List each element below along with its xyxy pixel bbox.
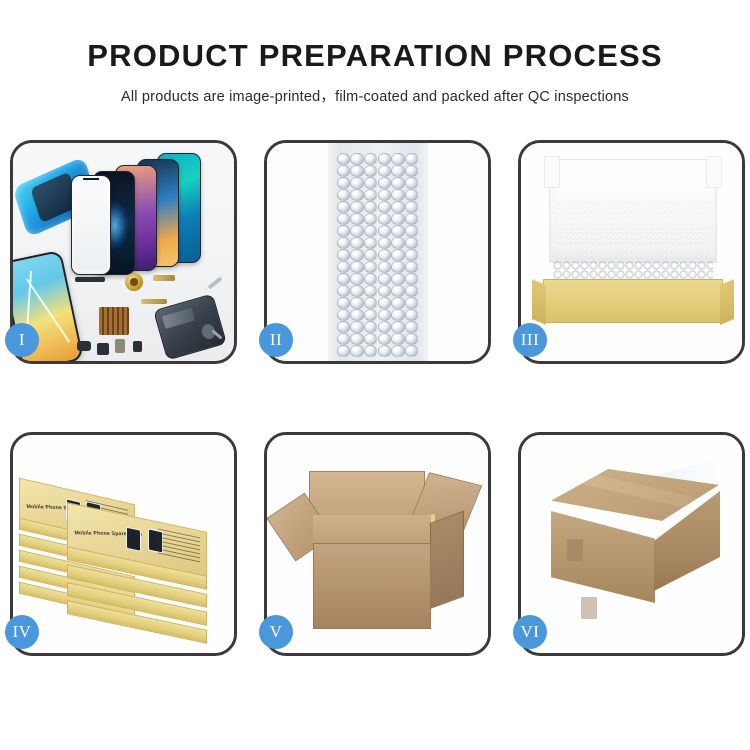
kraft-box-base-icon bbox=[543, 279, 723, 323]
step-image-4: Mobile Phone Spare Parts Mobile Phon bbox=[13, 435, 234, 653]
shipping-carton-sealed bbox=[545, 469, 725, 625]
bubble-cell bbox=[378, 333, 391, 344]
bubble-cell bbox=[337, 321, 350, 332]
bubble-cell bbox=[364, 309, 377, 320]
bubble-cell bbox=[337, 153, 350, 164]
bubble-cell bbox=[405, 285, 418, 296]
step-badge-5: V bbox=[259, 615, 293, 649]
bubble-cell bbox=[378, 237, 391, 248]
bubble-cell bbox=[391, 201, 404, 212]
bubble-cell bbox=[405, 153, 418, 164]
carton-side-right bbox=[430, 511, 464, 609]
step-panel-2: II bbox=[264, 140, 491, 364]
bubble-cell bbox=[350, 309, 363, 320]
box-stack: Mobile Phone Spare Parts Mobile Phon bbox=[15, 443, 234, 653]
bubble-cell bbox=[378, 225, 391, 236]
bubble-cell bbox=[337, 333, 350, 344]
bubble-cell bbox=[405, 345, 418, 356]
bubble-cell bbox=[405, 201, 418, 212]
bubble-cell bbox=[378, 153, 391, 164]
part-chip-icon bbox=[97, 343, 109, 355]
bubble-cell bbox=[364, 189, 377, 200]
bubble-cell bbox=[337, 249, 350, 260]
bubble-cell bbox=[378, 201, 391, 212]
bubble-cell bbox=[337, 261, 350, 272]
bubble-cell bbox=[391, 309, 404, 320]
bubble-cell bbox=[337, 297, 350, 308]
part-small-icon bbox=[133, 341, 142, 352]
flex-cable-icon bbox=[141, 299, 167, 304]
bubble-cell bbox=[364, 153, 377, 164]
bubble-cell bbox=[350, 237, 363, 248]
bubble-cell bbox=[350, 189, 363, 200]
bubble-cell bbox=[405, 273, 418, 284]
step-panel-5: V bbox=[264, 432, 491, 656]
bubble-cell bbox=[337, 309, 350, 320]
bubble-cell bbox=[391, 345, 404, 356]
bubble-cell bbox=[405, 249, 418, 260]
page-title: PRODUCT PREPARATION PROCESS bbox=[0, 38, 750, 74]
open-carton-illustration bbox=[267, 435, 488, 653]
bubble-cell bbox=[391, 249, 404, 260]
bubble-cell bbox=[350, 321, 363, 332]
step-panel-6: VI bbox=[518, 432, 745, 656]
flex-cable-icon bbox=[153, 275, 175, 281]
bubble-cell bbox=[391, 165, 404, 176]
connector-grid-icon bbox=[99, 307, 129, 335]
step-badge-1: I bbox=[5, 323, 39, 357]
bubble-cell bbox=[364, 225, 377, 236]
bubble-wrap-illustration bbox=[267, 143, 488, 361]
sealed-carton-illustration bbox=[521, 435, 742, 653]
bubble-cell bbox=[364, 165, 377, 176]
box-spec-lines bbox=[158, 528, 200, 563]
step-panel-4: Mobile Phone Spare Parts Mobile Phon bbox=[10, 432, 237, 656]
bubble-cell bbox=[405, 165, 418, 176]
bubble-cell bbox=[378, 321, 391, 332]
bubble-cell bbox=[364, 237, 377, 248]
bubble-cell bbox=[391, 177, 404, 188]
bubble-cell bbox=[337, 177, 350, 188]
bubble-cell bbox=[350, 153, 363, 164]
header: PRODUCT PREPARATION PROCESS All products… bbox=[0, 0, 750, 106]
bubble-cell bbox=[337, 213, 350, 224]
bubble-cell bbox=[378, 165, 391, 176]
part-strip-icon bbox=[75, 277, 105, 282]
bubble-cell bbox=[337, 189, 350, 200]
bubble-cell bbox=[391, 213, 404, 224]
bubble-cell bbox=[405, 225, 418, 236]
step-badge-3: III bbox=[513, 323, 547, 357]
bubble-cell bbox=[391, 285, 404, 296]
bubble-cell bbox=[405, 333, 418, 344]
phone-thumb-icon bbox=[126, 527, 141, 552]
page-subtitle: All products are image-printed，film-coat… bbox=[0, 85, 750, 106]
bubble-cell bbox=[350, 345, 363, 356]
step-badge-6: VI bbox=[513, 615, 547, 649]
bubble-cell bbox=[405, 237, 418, 248]
bubble-cell bbox=[350, 225, 363, 236]
bubble-cell bbox=[350, 177, 363, 188]
bubble-cell bbox=[364, 285, 377, 296]
bubble-cell bbox=[337, 345, 350, 356]
step-image-2 bbox=[267, 143, 488, 361]
bubble-cell bbox=[364, 273, 377, 284]
bubble-cell bbox=[405, 297, 418, 308]
tweezer-icon bbox=[207, 276, 222, 289]
step-image-1 bbox=[13, 143, 234, 361]
bubble-cell bbox=[350, 213, 363, 224]
carton-flap-mark bbox=[581, 597, 597, 619]
bubble-cell bbox=[350, 297, 363, 308]
stacked-boxes-illustration: Mobile Phone Spare Parts Mobile Phon bbox=[13, 435, 234, 653]
notch-icon bbox=[83, 178, 99, 184]
bubble-cell bbox=[378, 273, 391, 284]
bubble-cell bbox=[391, 237, 404, 248]
bubble-cell bbox=[405, 309, 418, 320]
carton-flap-mark bbox=[567, 539, 583, 561]
screen-glass-icon bbox=[71, 175, 111, 275]
bubble-cell bbox=[378, 297, 391, 308]
bubble-cell bbox=[350, 273, 363, 284]
bubble-cell bbox=[364, 345, 377, 356]
bubble-cell bbox=[350, 261, 363, 272]
bubble-cell bbox=[378, 177, 391, 188]
bubble-cell bbox=[337, 237, 350, 248]
bubble-cell bbox=[391, 225, 404, 236]
bubble-cell bbox=[350, 201, 363, 212]
bubble-cell bbox=[337, 285, 350, 296]
bubble-cell bbox=[405, 177, 418, 188]
bubble-cell bbox=[337, 225, 350, 236]
bubble-wrap-pouch-icon bbox=[328, 143, 428, 361]
spare-parts-cluster bbox=[75, 271, 227, 361]
bubble-cell bbox=[337, 273, 350, 284]
bubble-cell bbox=[405, 189, 418, 200]
step-image-5 bbox=[267, 435, 488, 653]
bubble-cell bbox=[364, 321, 377, 332]
bubble-cell bbox=[391, 333, 404, 344]
bubble-cell bbox=[337, 201, 350, 212]
bubble-cell bbox=[337, 165, 350, 176]
bubble-cell bbox=[391, 153, 404, 164]
product-assortment-illustration bbox=[13, 143, 234, 361]
step-panel-3: III bbox=[518, 140, 745, 364]
step-image-6 bbox=[521, 435, 742, 653]
bubble-cell bbox=[378, 249, 391, 260]
bubble-cell bbox=[378, 189, 391, 200]
bubble-cell bbox=[391, 261, 404, 272]
part-button-icon bbox=[115, 339, 125, 353]
bubble-cell bbox=[378, 261, 391, 272]
carton-front-face bbox=[313, 543, 431, 629]
bubble-cell bbox=[364, 177, 377, 188]
step-badge-4: IV bbox=[5, 615, 39, 649]
bubble-cell bbox=[378, 309, 391, 320]
bubble-cell bbox=[391, 321, 404, 332]
bubble-cell bbox=[391, 273, 404, 284]
bubble-cell bbox=[405, 261, 418, 272]
bubble-grid bbox=[337, 153, 419, 357]
bubble-cell bbox=[364, 249, 377, 260]
step-image-3 bbox=[521, 143, 742, 361]
bubble-cell bbox=[391, 297, 404, 308]
bubble-cell bbox=[350, 249, 363, 260]
bubble-cell bbox=[350, 285, 363, 296]
bubble-cell bbox=[364, 297, 377, 308]
bubble-cell bbox=[405, 213, 418, 224]
shipping-carton-open bbox=[293, 465, 469, 635]
bubble-cell bbox=[350, 165, 363, 176]
phone-fan-group bbox=[65, 151, 234, 281]
step-panel-1: I bbox=[10, 140, 237, 364]
speaker-coil-icon bbox=[125, 273, 143, 291]
product-preparation-infographic: PRODUCT PREPARATION PROCESS All products… bbox=[0, 0, 750, 750]
bubble-cell bbox=[378, 345, 391, 356]
bubble-cell bbox=[364, 261, 377, 272]
bubble-cell bbox=[364, 201, 377, 212]
bubble-cell bbox=[364, 213, 377, 224]
bubble-cell bbox=[350, 333, 363, 344]
foam-sheet-icon bbox=[555, 201, 711, 263]
part-camera-icon bbox=[77, 341, 91, 351]
bubble-cell bbox=[378, 213, 391, 224]
bubble-cell bbox=[364, 333, 377, 344]
bubble-cell bbox=[391, 189, 404, 200]
steps-grid: I II III bbox=[10, 140, 740, 680]
open-inner-box-illustration bbox=[521, 143, 742, 361]
bubble-cell bbox=[378, 285, 391, 296]
step-badge-2: II bbox=[259, 323, 293, 357]
bubble-cell bbox=[405, 321, 418, 332]
